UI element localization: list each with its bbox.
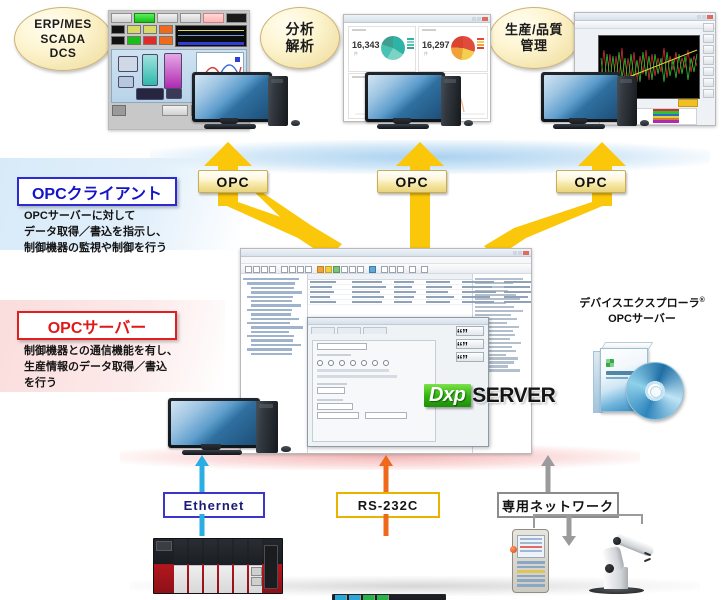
srv-titlebar: [241, 249, 531, 257]
network-arrow-dedicated: [540, 455, 556, 493]
bi-legend-left: [407, 38, 414, 50]
oval-line: ERP/MES: [34, 17, 92, 32]
pendant-keypad: [517, 561, 545, 588]
hmi-indicator-group: [143, 25, 157, 47]
dxp-logo-word: SERVER: [472, 385, 555, 406]
bi-kpi-right: 16,297: [422, 40, 450, 50]
device-robot-arm: [576, 528, 668, 594]
dialog-ok-button[interactable]: [456, 326, 484, 336]
client-pc-2: [365, 72, 475, 136]
dialog-panel: [312, 340, 436, 442]
hmi-indicator-group: [111, 25, 125, 47]
hmi-button-settings: [180, 13, 201, 23]
hmi-clock: [226, 13, 247, 23]
hmi-button-maintenance: [157, 13, 178, 23]
bi-card-left: 16,343 件: [348, 26, 416, 72]
hmi-button-alarm: [203, 13, 224, 23]
oval-analysis: 分析 解析: [260, 7, 340, 69]
srv-menubar: [241, 257, 531, 264]
hmi-button-stop: [111, 13, 132, 23]
dedicated-bus-line: [533, 514, 643, 516]
oval-line: SCADA: [34, 32, 92, 47]
pc-screen: [195, 75, 269, 119]
opc-arrow-center-svg: [390, 140, 450, 260]
bi-titlebar: [344, 15, 490, 23]
plc-module-slots: [335, 595, 389, 600]
dialog-titlebar: [308, 318, 488, 325]
dialog-radio[interactable]: [383, 360, 389, 366]
dialog-radio[interactable]: [339, 360, 345, 366]
pendant-screen: [517, 535, 545, 558]
robot-elbow-joint: [613, 537, 621, 545]
qa-side-buttons: [703, 23, 714, 100]
product-name: デバイスエクスプローラ® OPCサーバー: [568, 296, 716, 327]
dxp-logo-mark: Dxp: [424, 384, 471, 407]
opc-badge-left: OPC: [198, 170, 268, 193]
dialog-cancel-button[interactable]: [456, 339, 484, 349]
dedicated-bus-left-drop: [533, 514, 535, 528]
callout-opc-server-title: OPCサーバー: [17, 311, 177, 340]
dialog-button-group: [456, 326, 484, 365]
dialog-radio[interactable]: [350, 360, 356, 366]
opc-server-pc: [168, 398, 293, 460]
product-name-line1: デバイスエクスプローラ: [579, 298, 699, 310]
oval-erp-mes-scada-dcs: ERP/MES SCADA DCS: [14, 7, 112, 71]
network-line-ethernet-down: [194, 514, 210, 536]
dxp-server-logo: Dxp SERVER: [424, 384, 555, 407]
network-arrow-rs232c: [378, 455, 394, 493]
product-registered-mark: ®: [700, 297, 705, 304]
oval-line: 管理: [505, 38, 563, 54]
srv-device-properties-dialog: [307, 317, 489, 447]
bi-kpi-right-unit: 件: [424, 51, 428, 57]
device-plc-ethernet: [153, 538, 283, 594]
opc-badge-right: OPC: [556, 170, 626, 193]
bi-kpi-left-unit: 件: [354, 51, 358, 57]
product-box-subtitle: [606, 377, 628, 379]
dialog-radio[interactable]: [317, 360, 323, 366]
dialog-radio-row: [317, 360, 431, 366]
product-name-line2: OPCサーバー: [608, 313, 676, 325]
srv-toolbar: [241, 264, 531, 274]
callout-opc-client-title: OPCクライアント: [17, 177, 177, 206]
network-label-ethernet: Ethernet: [163, 492, 265, 518]
dialog-radio[interactable]: [372, 360, 378, 366]
bi-card-right: 16,297 件: [418, 26, 488, 72]
dialog-tab-performance[interactable]: [363, 327, 387, 334]
callout-opc-server-body: 制御機器との通信機能を有し、 生産情報のデータ取得／書込 を行う: [24, 344, 239, 392]
oval-line: 分析: [286, 21, 315, 38]
pc-screen: [368, 75, 442, 119]
hmi-top-buttons: [109, 11, 249, 25]
opc-badge-center: OPC: [377, 170, 447, 193]
network-line-rs232c-down: [378, 514, 394, 536]
bi-pie-left: [381, 36, 405, 60]
bi-legend-right: [477, 38, 484, 50]
hmi-indicator-row: [109, 25, 249, 49]
callout-opc-client-body: OPCサーバーに対して データ取得／書込を指示し、 制御機器の監視や制御を行う: [24, 209, 234, 257]
server-pc-screen: [171, 401, 257, 445]
device-plc-serial: [332, 594, 446, 600]
product-box-logo: [606, 359, 614, 367]
oval-production-quality: 生産/品質 管理: [489, 7, 579, 69]
dialog-apply-button[interactable]: [456, 352, 484, 362]
robot-gripper: [644, 553, 654, 562]
plc-module-slots: [174, 539, 261, 593]
robot-shoulder-joint: [605, 564, 614, 573]
product-cd-disc: [626, 362, 684, 420]
opc-arrow-right-svg: [470, 140, 645, 260]
hmi-indicator-group: [127, 25, 141, 47]
dialog-tab-options[interactable]: [337, 327, 361, 334]
hmi-indicator-group: [159, 25, 173, 47]
opc-arrow-right: [470, 140, 645, 260]
oval-line: 生産/品質: [505, 22, 563, 38]
diagram-canvas: ERP/MES SCADA DCS 分析 解析 生産/品質 管理: [0, 0, 724, 600]
bi-pie-right: [451, 36, 475, 60]
product-package: [600, 342, 692, 424]
qa-color-legend: [653, 109, 679, 123]
dialog-radio[interactable]: [328, 360, 334, 366]
qa-toolbar: [575, 21, 715, 29]
network-arrow-ethernet: [194, 455, 210, 493]
oval-line: DCS: [34, 46, 92, 61]
hmi-button-run: [134, 13, 155, 23]
network-arrow-dedicated-robot: [561, 516, 577, 546]
dialog-radio[interactable]: [361, 360, 367, 366]
dialog-tab-device[interactable]: [311, 327, 335, 334]
pc-screen: [544, 75, 618, 119]
qa-titlebar: [575, 13, 715, 21]
client-pc-1: [192, 72, 302, 136]
bi-kpi-left: 16,343: [352, 40, 380, 50]
oval-line: 解析: [286, 38, 315, 55]
client-pc-3: [541, 72, 651, 136]
opc-arrow-center: [390, 140, 450, 260]
dedicated-bus-right-drop: [641, 514, 643, 524]
hmi-trend-strip: [175, 25, 247, 47]
device-teach-pendant: [512, 529, 549, 593]
